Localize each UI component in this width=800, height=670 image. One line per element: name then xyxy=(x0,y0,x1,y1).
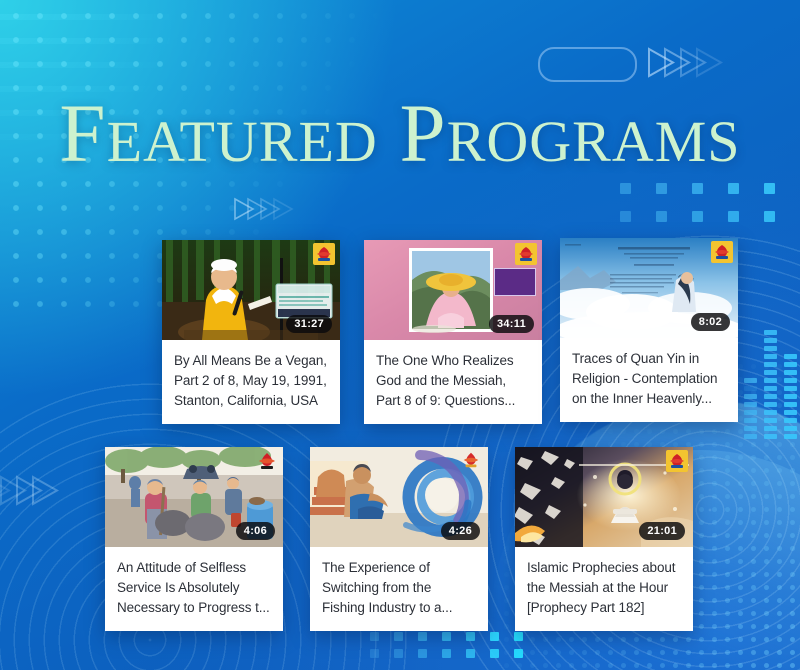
equalizer-column xyxy=(784,336,797,439)
duration-badge: 31:27 xyxy=(286,315,332,333)
square-dot xyxy=(394,632,403,641)
program-card[interactable]: 31:27 By All Means Be a Vegan, Part 2 of… xyxy=(162,240,340,424)
duration-badge: 8:02 xyxy=(691,313,730,331)
equalizer-bars-right xyxy=(744,330,800,439)
program-thumbnail[interactable]: 21:01 xyxy=(515,447,693,547)
square-dot xyxy=(466,632,475,641)
channel-logo-icon xyxy=(666,450,688,472)
pill-outline-decor xyxy=(538,47,637,82)
program-title: By All Means Be a Vegan, Part 2 of 8, Ma… xyxy=(162,340,340,424)
square-dot xyxy=(620,183,631,194)
program-card[interactable]: 4:26 The Experience of Switching from th… xyxy=(310,447,488,631)
square-dot xyxy=(656,183,667,194)
duration-badge: 34:11 xyxy=(489,315,534,333)
square-dot xyxy=(728,183,739,194)
rounded-pill-outline-icon xyxy=(538,47,637,82)
program-card[interactable]: 4:06 An Attitude of Selfless Service Is … xyxy=(105,447,283,631)
square-dot xyxy=(466,649,475,658)
square-dot xyxy=(728,211,739,222)
duration-badge: 4:06 xyxy=(236,522,275,540)
program-thumbnail[interactable]: 8:02 xyxy=(560,238,738,338)
program-title: Traces of Quan Yin in Religion - Contemp… xyxy=(560,338,738,422)
square-dot xyxy=(764,211,775,222)
equalizer-column xyxy=(764,330,777,439)
square-dot xyxy=(656,211,667,222)
square-dot xyxy=(692,183,703,194)
channel-logo-icon xyxy=(461,450,483,472)
program-card[interactable]: 34:11 The One Who Realizes God and the M… xyxy=(364,240,542,424)
square-dot xyxy=(442,632,451,641)
square-dot xyxy=(764,183,775,194)
page-title: Featured Programs xyxy=(0,92,800,175)
program-thumbnail[interactable]: 34:11 xyxy=(364,240,542,340)
square-dot-grid-bottom xyxy=(370,632,538,666)
program-title: The Experience of Switching from the Fis… xyxy=(310,547,488,631)
square-dot xyxy=(490,632,499,641)
program-thumbnail[interactable]: 31:27 xyxy=(162,240,340,340)
program-card[interactable]: 21:01 Islamic Prophecies about the Messi… xyxy=(515,447,693,631)
square-dot xyxy=(370,649,379,658)
program-thumbnail[interactable]: 4:26 xyxy=(310,447,488,547)
featured-programs-banner: Featured Programs xyxy=(0,0,800,670)
program-card[interactable]: 8:02 Traces of Quan Yin in Religion - Co… xyxy=(560,238,738,422)
square-dot xyxy=(514,632,523,641)
program-title: The One Who Realizes God and the Messiah… xyxy=(364,340,542,424)
square-dot xyxy=(620,211,631,222)
square-dot xyxy=(394,649,403,658)
program-thumbnail[interactable]: 4:06 xyxy=(105,447,283,547)
square-dot xyxy=(418,649,427,658)
square-dot-grid-right xyxy=(620,183,800,239)
program-title: Islamic Prophecies about the Messiah at … xyxy=(515,547,693,631)
square-dot xyxy=(418,632,427,641)
square-dot xyxy=(514,649,523,658)
channel-logo-icon xyxy=(711,241,733,263)
square-dot xyxy=(370,632,379,641)
square-dot xyxy=(692,211,703,222)
channel-logo-icon xyxy=(256,450,278,472)
program-title: An Attitude of Selfless Service Is Absol… xyxy=(105,547,283,631)
equalizer-column xyxy=(744,330,757,439)
channel-logo-icon xyxy=(515,243,537,265)
duration-badge: 21:01 xyxy=(639,522,685,540)
duration-badge: 4:26 xyxy=(441,522,480,540)
square-dot xyxy=(442,649,451,658)
square-dot xyxy=(490,649,499,658)
channel-logo-icon xyxy=(313,243,335,265)
